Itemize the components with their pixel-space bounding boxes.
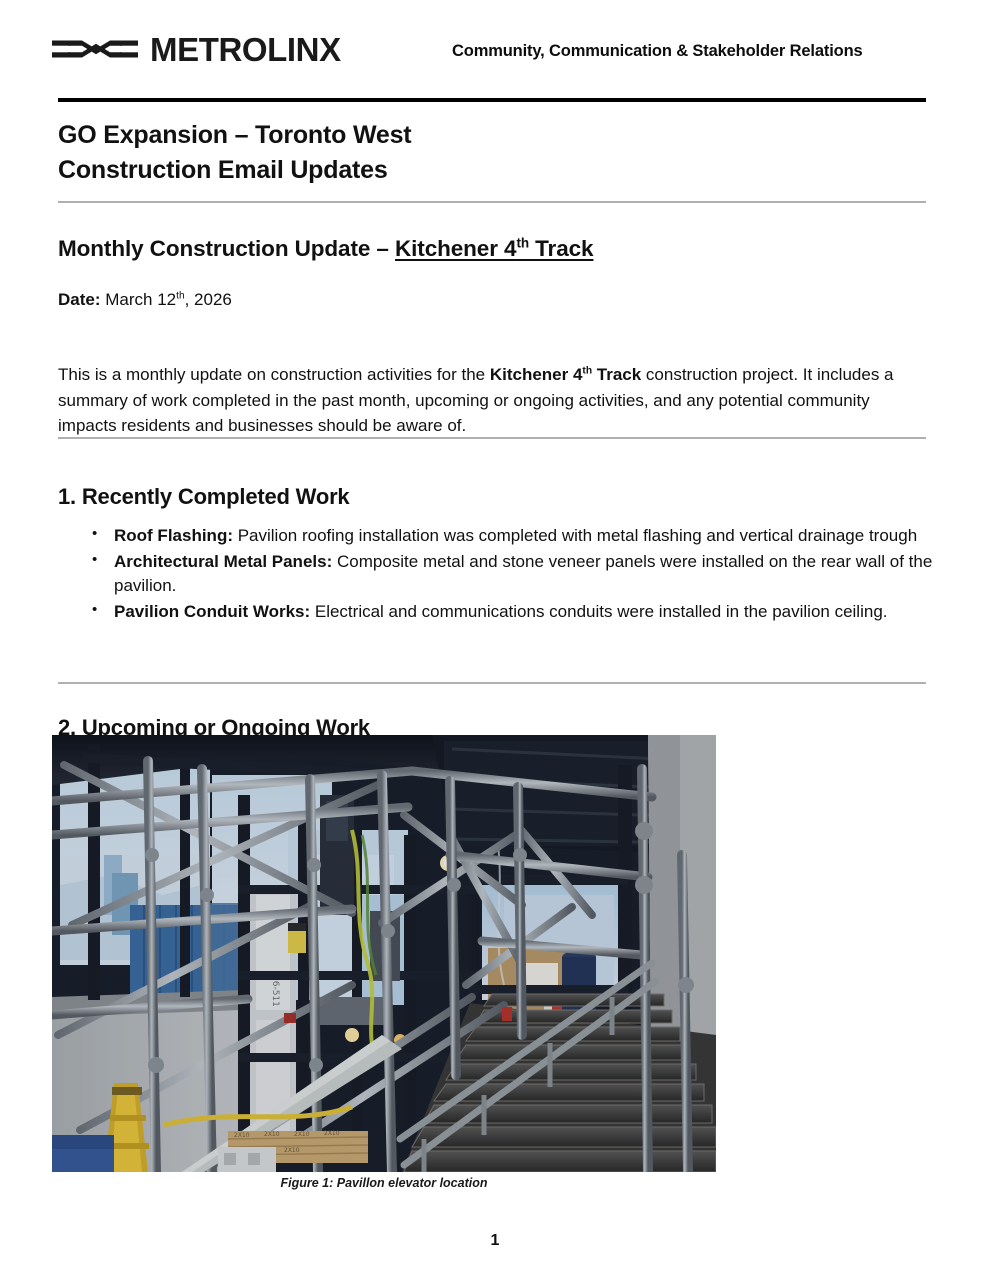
intro-project-ordinal: th <box>582 365 592 376</box>
intro-project-tail: Track <box>592 365 641 384</box>
date-ordinal: th <box>176 290 185 301</box>
update-subtitle-project: Kitchener 4th Track <box>395 236 593 261</box>
list-item-term: Roof Flashing: <box>114 526 233 545</box>
project-name-lead: Kitchener 4 <box>395 236 516 261</box>
completed-work-list: Roof Flashing: Pavilion roofing installa… <box>58 524 990 626</box>
date-line: Date: March 12th, 2026 <box>58 290 232 310</box>
list-item-term: Pavilion Conduit Works: <box>114 602 310 621</box>
update-subtitle-prefix: Monthly Construction Update – <box>58 236 395 261</box>
list-item-text: Pavilion roofing installation was comple… <box>233 526 917 545</box>
construction-photo: 16-511 <box>52 735 716 1172</box>
title-divider <box>58 201 926 203</box>
project-name-ordinal: th <box>516 236 529 251</box>
section-heading-recently-completed-work: 1. Recently Completed Work <box>58 484 349 510</box>
header-divider <box>58 98 926 102</box>
page-title-line-1: GO Expansion – Toronto West <box>58 118 758 153</box>
figure-caption: Figure 1: Pavillon elevator location <box>52 1176 716 1190</box>
intro-project-name: Kitchener 4th Track <box>490 365 641 384</box>
update-subtitle: Monthly Construction Update – Kitchener … <box>58 236 593 262</box>
list-item-term: Architectural Metal Panels: <box>114 552 332 571</box>
list-item: Architectural Metal Panels: Composite me… <box>114 550 990 599</box>
intro-part-1: This is a monthly update on construction… <box>58 365 490 384</box>
intro-project-lead: Kitchener 4 <box>490 365 583 384</box>
intro-paragraph: This is a monthly update on construction… <box>58 362 930 439</box>
page-title-line-2: Construction Email Updates <box>58 153 758 188</box>
date-label: Date: <box>58 290 101 309</box>
date-value-monthday: March 12 <box>101 290 177 309</box>
section-2-divider <box>58 682 926 684</box>
department-title: Community, Communication & Stakeholder R… <box>452 42 863 61</box>
project-name-tail: Track <box>529 236 593 261</box>
section-1-divider <box>58 437 926 439</box>
figure-1: 16-511 <box>52 735 716 1172</box>
document-page: METROLINX Community, Communication & Sta… <box>0 0 990 1280</box>
metrolinx-logo: METROLINX <box>52 30 341 68</box>
list-item: Roof Flashing: Pavilion roofing installa… <box>114 524 990 549</box>
list-item: Pavilion Conduit Works: Electrical and c… <box>114 600 990 625</box>
list-item-text: Electrical and communications conduits w… <box>310 602 887 621</box>
document-header: METROLINX Community, Communication & Sta… <box>0 28 990 80</box>
page-number: 1 <box>0 1232 990 1250</box>
page-title: GO Expansion – Toronto West Construction… <box>58 118 758 187</box>
metrolinx-wordmark: METROLINX <box>150 33 341 66</box>
date-value-year: , 2026 <box>185 290 232 309</box>
metrolinx-chevron-mark-icon <box>52 30 138 68</box>
